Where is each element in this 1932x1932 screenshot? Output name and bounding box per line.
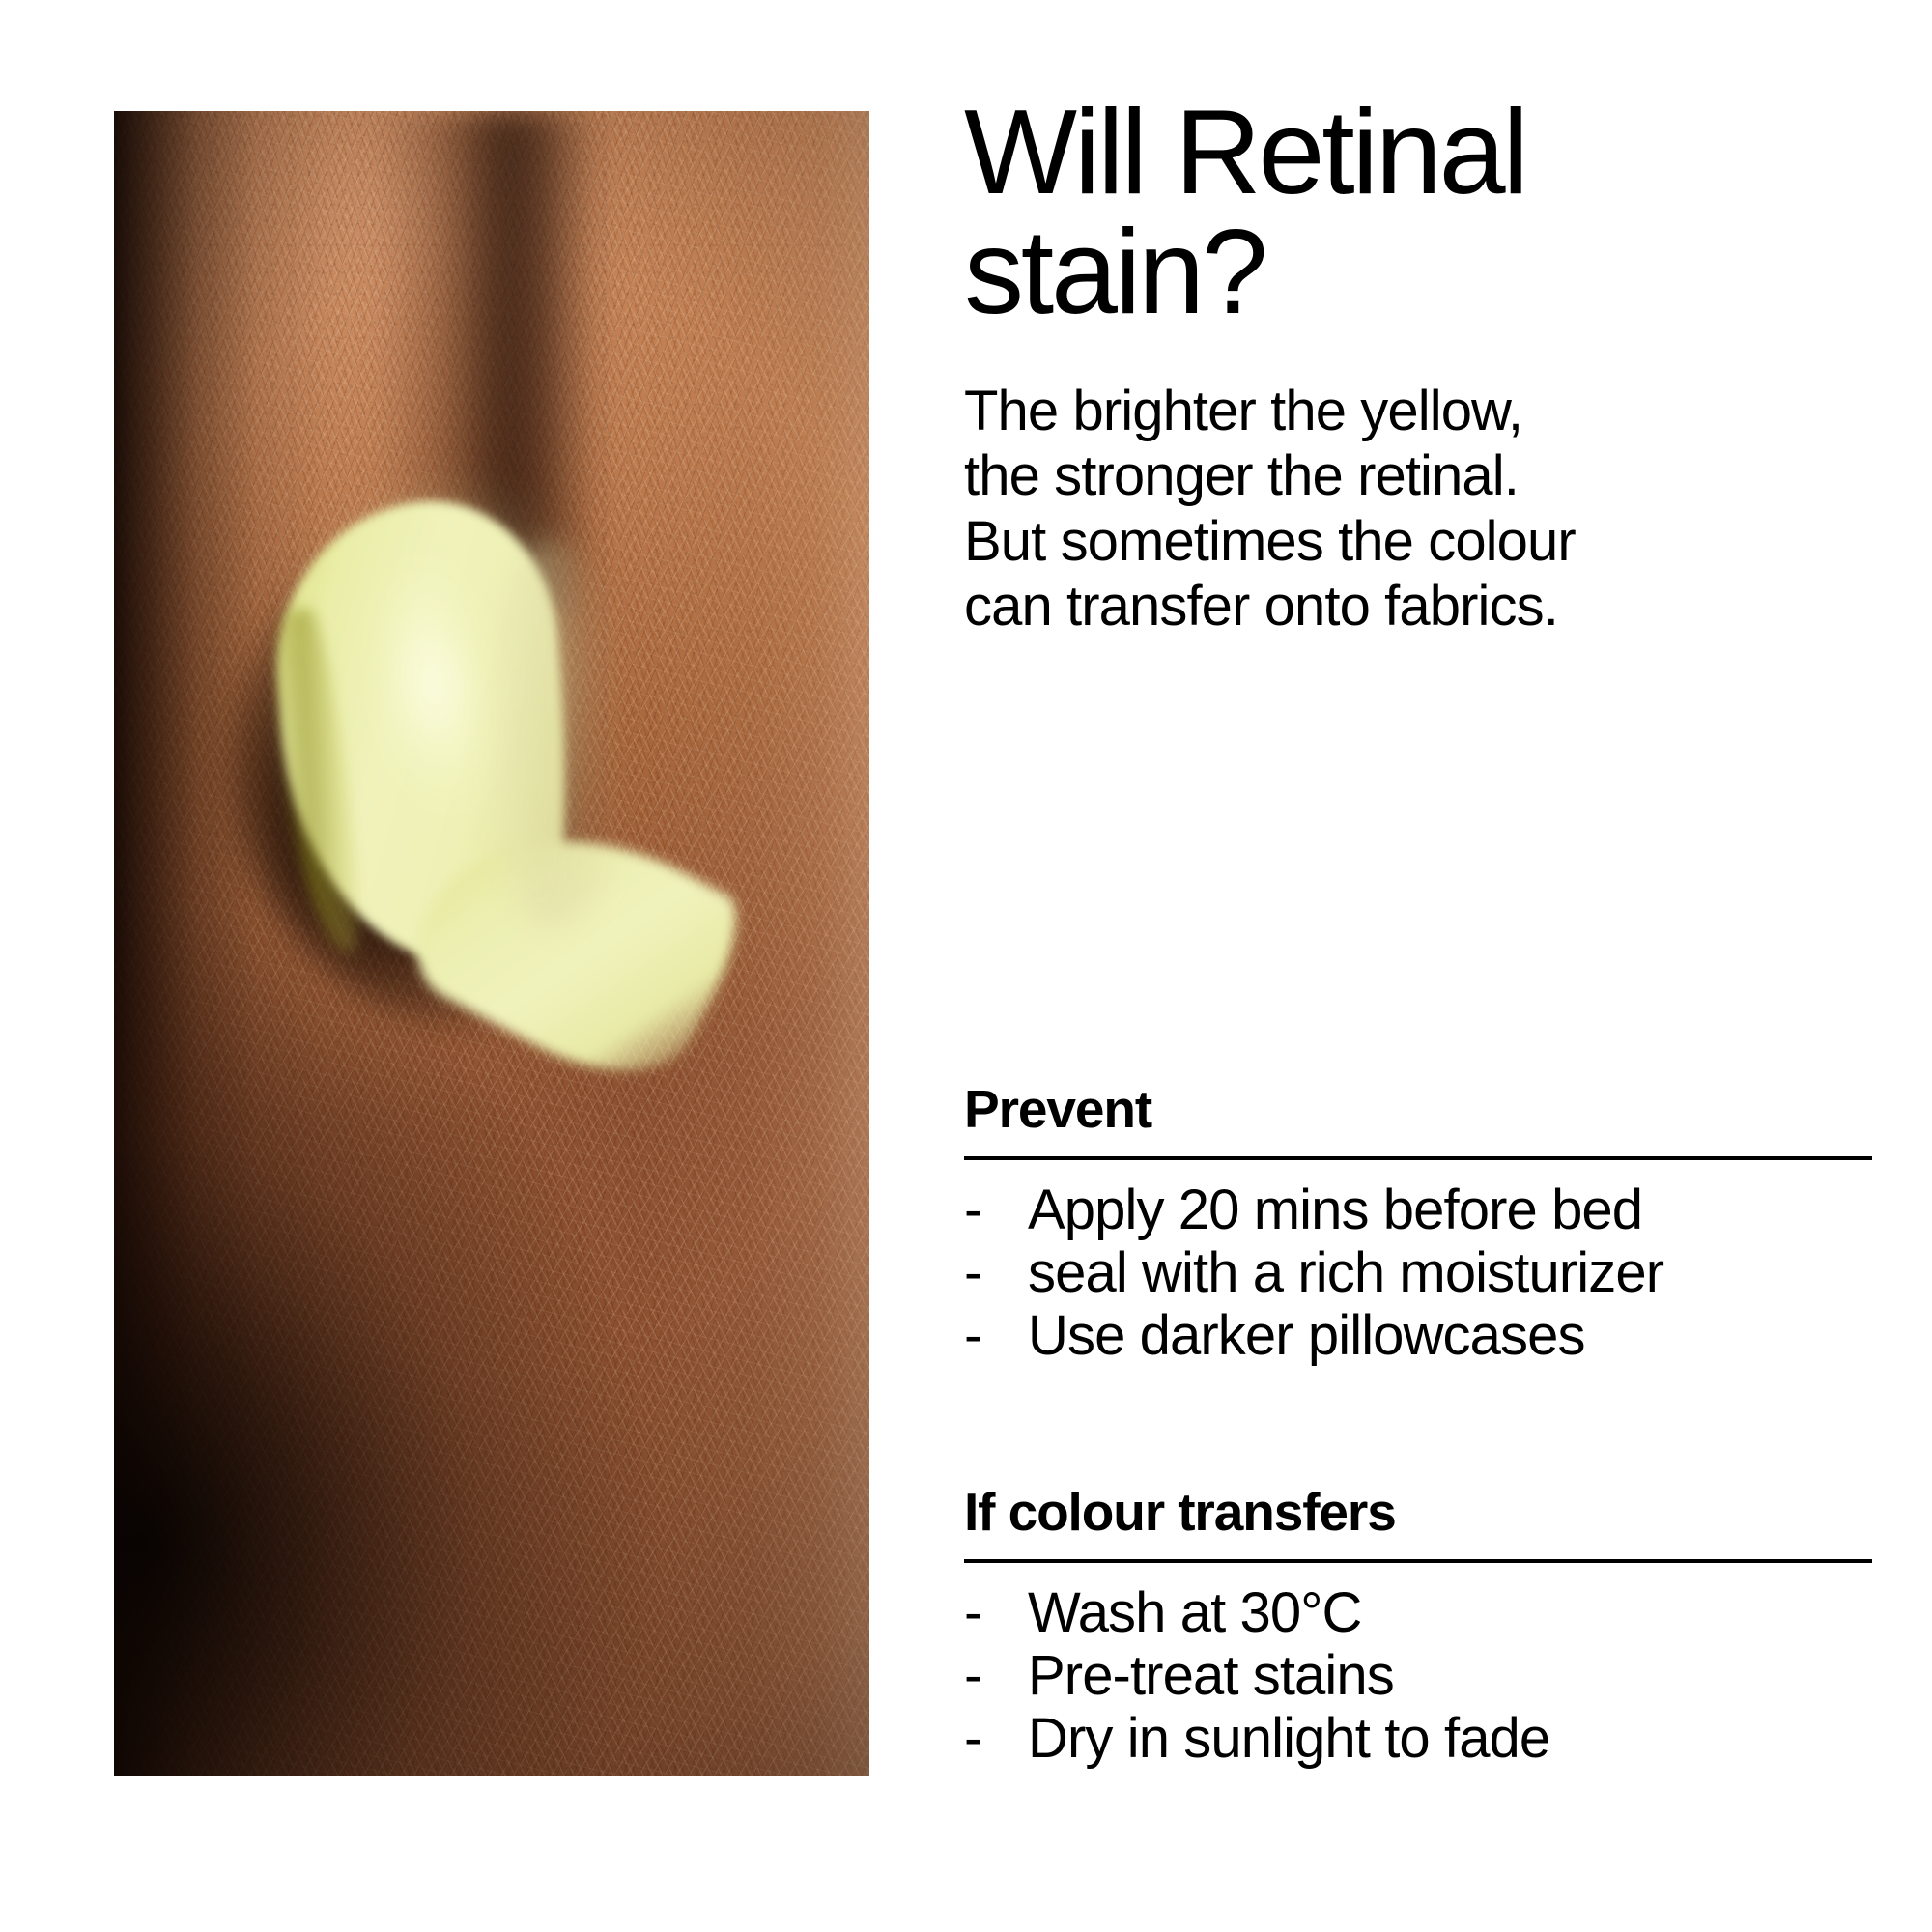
list-item-label: Pre-treat stains (1028, 1645, 1872, 1708)
list-item: - seal with a rich moisturizer (964, 1242, 1872, 1305)
dash-bullet: - (964, 1242, 1028, 1305)
section-title-if-colour-transfers: If colour transfers (964, 1485, 1872, 1540)
dash-bullet: - (964, 1582, 1028, 1645)
text-column: Will Retinal stain? The brighter the yel… (964, 0, 1872, 1932)
section-title-prevent: Prevent (964, 1082, 1872, 1137)
section-divider-if-colour-transfers (964, 1559, 1872, 1563)
prevent-list: - Apply 20 mins before bed - seal with a… (964, 1179, 1872, 1368)
list-item: - Pre-treat stains (964, 1645, 1872, 1708)
retinal-cream-swatch-photo (114, 111, 869, 1776)
dash-bullet: - (964, 1179, 1028, 1242)
section-if-colour-transfers: If colour transfers - Wash at 30°C - Pre… (964, 1485, 1872, 1771)
list-item-label: Apply 20 mins before bed (1028, 1179, 1872, 1242)
list-item-label: Use darker pillowcases (1028, 1305, 1872, 1368)
list-item-label: Dry in sunlight to fade (1028, 1708, 1872, 1771)
list-item: - Dry in sunlight to fade (964, 1708, 1872, 1771)
dash-bullet: - (964, 1645, 1028, 1708)
retinal-stain-infographic-card: Will Retinal stain? The brighter the yel… (0, 0, 1932, 1932)
cream-swatch-group (249, 483, 655, 1043)
section-divider-prevent (964, 1156, 1872, 1160)
list-item: - Use darker pillowcases (964, 1305, 1872, 1368)
dash-bullet: - (964, 1708, 1028, 1771)
list-item: - Wash at 30°C (964, 1582, 1872, 1645)
transfers-list: - Wash at 30°C - Pre-treat stains - Dry … (964, 1582, 1872, 1771)
dash-bullet: - (964, 1305, 1028, 1368)
list-item: - Apply 20 mins before bed (964, 1179, 1872, 1242)
section-prevent: Prevent - Apply 20 mins before bed - sea… (964, 1082, 1872, 1368)
list-item-label: Wash at 30°C (1028, 1582, 1872, 1645)
intro-paragraph: The brighter the yellow, the stronger th… (964, 379, 1833, 639)
page-title: Will Retinal stain? (964, 93, 1872, 332)
list-item-label: seal with a rich moisturizer (1028, 1242, 1872, 1305)
